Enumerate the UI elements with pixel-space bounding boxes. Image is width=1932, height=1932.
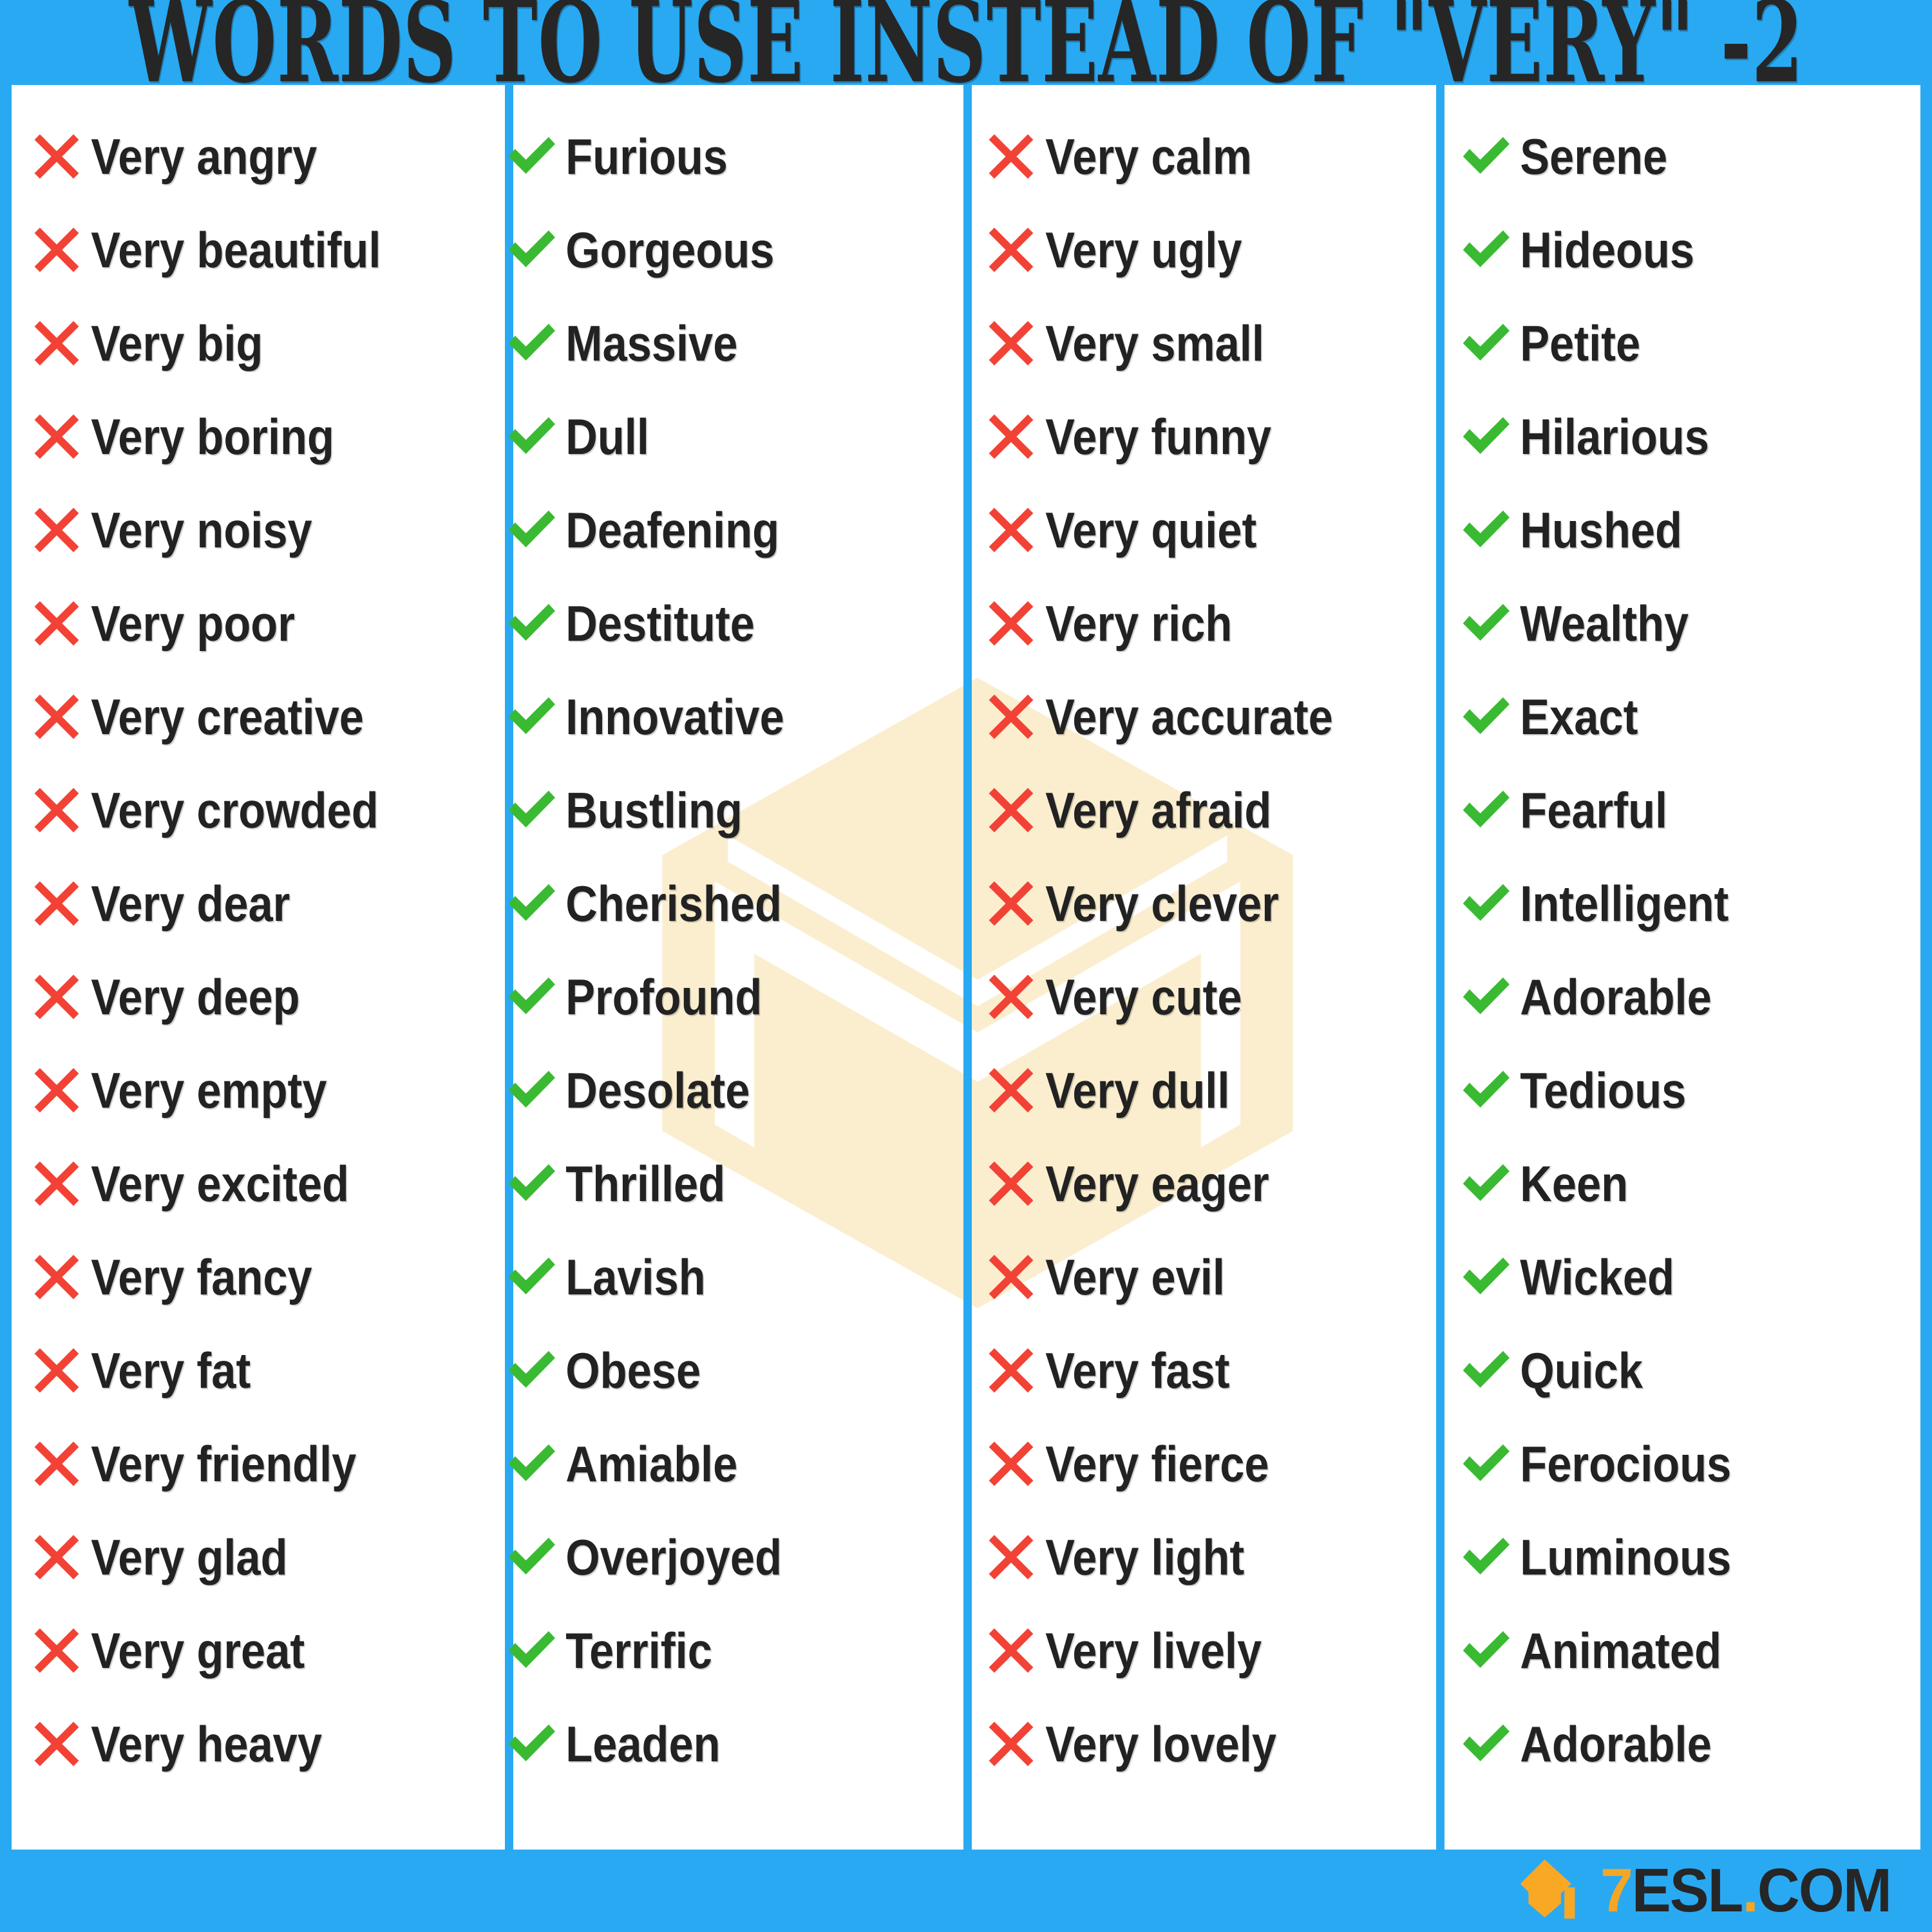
- content-panel: Very angryVery beautifulVery bigVery bor…: [12, 85, 1920, 1850]
- avoid-word-label: Very crowded: [88, 785, 379, 835]
- word-row: Deafening: [489, 483, 966, 576]
- word-row: Furious: [489, 109, 966, 203]
- word-row: Lavish: [489, 1230, 966, 1323]
- infographic-poster: WORDS TO USE INSTEAD OF "VERY" -2 Very a…: [0, 0, 1932, 1932]
- cross-icon: [26, 312, 88, 374]
- check-icon: [500, 499, 562, 561]
- word-row: Quick: [1443, 1323, 1920, 1417]
- avoid-word-label: Very beautiful: [88, 225, 381, 275]
- cross-icon: [26, 873, 88, 934]
- avoid-word-label: Very excited: [88, 1159, 349, 1209]
- logo-wordmark: 7ESL.COM: [1600, 1860, 1891, 1922]
- avoid-word-label: Very big: [88, 318, 263, 368]
- avoid-word-label: Very friendly: [88, 1439, 356, 1489]
- use-word-label: Obese: [562, 1345, 701, 1396]
- word-row: Massive: [489, 296, 966, 390]
- check-icon: [500, 1433, 562, 1495]
- word-row: Serene: [1443, 109, 1920, 203]
- use-word-label: Adorable: [1517, 1719, 1712, 1769]
- columns-container: Very angryVery beautifulVery bigVery bor…: [12, 85, 1920, 1850]
- word-row: Destitute: [489, 576, 966, 670]
- use-word-label: Serene: [1517, 131, 1667, 182]
- cross-icon: [980, 499, 1042, 561]
- cross-icon: [26, 1713, 88, 1775]
- logo-seven: 7: [1600, 1856, 1632, 1925]
- use-word-label: Leaden: [562, 1719, 721, 1769]
- word-row: Terrific: [489, 1604, 966, 1697]
- check-icon: [1455, 873, 1517, 934]
- word-row: Very boring: [12, 390, 489, 483]
- use-word-label: Thrilled: [562, 1159, 725, 1209]
- word-row: Fearful: [1443, 763, 1920, 857]
- cross-icon: [980, 1340, 1042, 1401]
- cross-icon: [26, 1059, 88, 1121]
- check-icon: [500, 126, 562, 187]
- avoid-word-label: Very noisy: [88, 505, 312, 555]
- word-row: Adorable: [1443, 950, 1920, 1043]
- use-word-label: Luminous: [1517, 1532, 1731, 1582]
- cross-icon: [26, 1246, 88, 1308]
- use-word-label: Adorable: [1517, 972, 1712, 1022]
- word-row: Very rich: [966, 576, 1443, 670]
- use-word-label: Cherished: [562, 878, 782, 929]
- word-row: Profound: [489, 950, 966, 1043]
- word-row: Thrilled: [489, 1137, 966, 1230]
- avoid-word-label: Very small: [1042, 318, 1264, 368]
- use-word-label: Gorgeous: [562, 225, 774, 275]
- use-word-label: Dull: [562, 412, 649, 462]
- use-word-label: Hushed: [1517, 505, 1682, 555]
- check-icon: [500, 1153, 562, 1215]
- check-icon: [500, 686, 562, 748]
- check-icon: [500, 219, 562, 281]
- check-icon: [1455, 126, 1517, 187]
- cross-icon: [980, 1713, 1042, 1775]
- cross-icon: [980, 312, 1042, 374]
- avoid-word-label: Very fast: [1042, 1345, 1229, 1396]
- check-icon: [1455, 1059, 1517, 1121]
- word-row: Wealthy: [1443, 576, 1920, 670]
- use-word-label: Profound: [562, 972, 762, 1022]
- word-row: Very deep: [12, 950, 489, 1043]
- avoid-word-label: Very great: [88, 1625, 305, 1676]
- word-row: Very crowded: [12, 763, 489, 857]
- check-icon: [1455, 312, 1517, 374]
- cross-icon: [26, 1433, 88, 1495]
- avoid-word-label: Very fat: [88, 1345, 251, 1396]
- check-icon: [500, 1340, 562, 1401]
- word-row: Overjoyed: [489, 1510, 966, 1604]
- cross-icon: [26, 1340, 88, 1401]
- word-row: Very big: [12, 296, 489, 390]
- cross-icon: [980, 779, 1042, 841]
- check-icon: [500, 779, 562, 841]
- use-word-label: Tedious: [1517, 1065, 1686, 1115]
- use-word-label: Furious: [562, 131, 728, 182]
- cross-icon: [980, 1526, 1042, 1588]
- check-icon: [1455, 966, 1517, 1028]
- avoid-word-label: Very afraid: [1042, 785, 1271, 835]
- word-row: Very angry: [12, 109, 489, 203]
- check-icon: [500, 1059, 562, 1121]
- cross-icon: [980, 966, 1042, 1028]
- avoid-word-label: Very calm: [1042, 131, 1252, 182]
- check-icon: [1455, 219, 1517, 281]
- cross-icon: [980, 873, 1042, 934]
- use-word-label: Destitute: [562, 598, 755, 649]
- word-row: Very ugly: [966, 203, 1443, 296]
- use-word-label: Bustling: [562, 785, 743, 835]
- word-row: Very afraid: [966, 763, 1443, 857]
- check-icon: [1455, 1340, 1517, 1401]
- check-icon: [1455, 1433, 1517, 1495]
- cross-icon: [980, 686, 1042, 748]
- word-row: Very clever: [966, 857, 1443, 950]
- site-logo[interactable]: 7ESL.COM: [1519, 1856, 1906, 1926]
- cross-icon: [26, 406, 88, 468]
- avoid-word-label: Very fierce: [1042, 1439, 1269, 1489]
- word-row: Very lively: [966, 1604, 1443, 1697]
- use-word-label: Ferocious: [1517, 1439, 1731, 1489]
- cross-icon: [980, 1059, 1042, 1121]
- column-use-1: FuriousGorgeousMassiveDullDeafeningDesti…: [489, 85, 966, 1850]
- word-row: Very empty: [12, 1043, 489, 1137]
- cross-icon: [26, 592, 88, 654]
- check-icon: [1455, 1526, 1517, 1588]
- use-word-label: Animated: [1517, 1625, 1721, 1676]
- word-row: Very fancy: [12, 1230, 489, 1323]
- avoid-word-label: Very quiet: [1042, 505, 1256, 555]
- word-row: Wicked: [1443, 1230, 1920, 1323]
- use-word-label: Terrific: [562, 1625, 712, 1676]
- word-row: Exact: [1443, 670, 1920, 763]
- avoid-word-label: Very empty: [88, 1065, 327, 1115]
- word-row: Adorable: [1443, 1697, 1920, 1790]
- word-row: Leaden: [489, 1697, 966, 1790]
- check-icon: [500, 1713, 562, 1775]
- word-row: Very excited: [12, 1137, 489, 1230]
- title-bar: WORDS TO USE INSTEAD OF "VERY" -2: [0, 0, 1932, 85]
- check-icon: [500, 1526, 562, 1588]
- footer-bar: 7ESL.COM: [0, 1850, 1932, 1932]
- word-row: Luminous: [1443, 1510, 1920, 1604]
- check-icon: [500, 1246, 562, 1308]
- cross-icon: [980, 1433, 1042, 1495]
- check-icon: [500, 312, 562, 374]
- check-icon: [1455, 1153, 1517, 1215]
- word-row: Very glad: [12, 1510, 489, 1604]
- use-word-label: Deafening: [562, 505, 779, 555]
- logo-esl: ESL: [1632, 1856, 1743, 1925]
- use-word-label: Overjoyed: [562, 1532, 782, 1582]
- word-row: Desolate: [489, 1043, 966, 1137]
- word-row: Gorgeous: [489, 203, 966, 296]
- word-row: Hushed: [1443, 483, 1920, 576]
- column-avoid-1: Very angryVery beautifulVery bigVery bor…: [12, 85, 489, 1850]
- avoid-word-label: Very funny: [1042, 412, 1271, 462]
- word-row: Very eager: [966, 1137, 1443, 1230]
- cube-logo-icon: [1519, 1856, 1589, 1926]
- avoid-word-label: Very lovely: [1042, 1719, 1276, 1769]
- word-row: Very funny: [966, 390, 1443, 483]
- word-row: Hideous: [1443, 203, 1920, 296]
- word-row: Bustling: [489, 763, 966, 857]
- word-row: Hilarious: [1443, 390, 1920, 483]
- word-row: Very cute: [966, 950, 1443, 1043]
- word-row: Tedious: [1443, 1043, 1920, 1137]
- word-row: Innovative: [489, 670, 966, 763]
- word-row: Very noisy: [12, 483, 489, 576]
- cross-icon: [980, 126, 1042, 187]
- cross-icon: [26, 126, 88, 187]
- use-word-label: Wealthy: [1517, 598, 1689, 649]
- avoid-word-label: Very dull: [1042, 1065, 1229, 1115]
- avoid-word-label: Very heavy: [88, 1719, 322, 1769]
- check-icon: [500, 873, 562, 934]
- word-row: Very great: [12, 1604, 489, 1697]
- avoid-word-label: Very poor: [88, 598, 295, 649]
- cross-icon: [26, 1526, 88, 1588]
- logo-com: COM: [1757, 1856, 1891, 1925]
- cross-icon: [980, 592, 1042, 654]
- word-row: Very calm: [966, 109, 1443, 203]
- avoid-word-label: Very light: [1042, 1532, 1244, 1582]
- check-icon: [1455, 1620, 1517, 1681]
- column-use-2: SereneHideousPetiteHilariousHushedWealth…: [1443, 85, 1920, 1850]
- word-row: Cherished: [489, 857, 966, 950]
- column-avoid-2: Very calmVery uglyVery smallVery funnyVe…: [966, 85, 1443, 1850]
- use-word-label: Quick: [1517, 1345, 1643, 1396]
- check-icon: [1455, 1713, 1517, 1775]
- word-row: Ferocious: [1443, 1417, 1920, 1510]
- logo-dot: .: [1743, 1856, 1757, 1925]
- word-row: Very fat: [12, 1323, 489, 1417]
- use-word-label: Wicked: [1517, 1252, 1674, 1302]
- word-row: Very light: [966, 1510, 1443, 1604]
- use-word-label: Hilarious: [1517, 412, 1709, 462]
- avoid-word-label: Very angry: [88, 131, 317, 182]
- word-row: Very heavy: [12, 1697, 489, 1790]
- use-word-label: Hideous: [1517, 225, 1694, 275]
- avoid-word-label: Very rich: [1042, 598, 1232, 649]
- avoid-word-label: Very deep: [88, 972, 300, 1022]
- use-word-label: Petite: [1517, 318, 1640, 368]
- use-word-label: Lavish: [562, 1252, 706, 1302]
- word-row: Animated: [1443, 1604, 1920, 1697]
- check-icon: [500, 1620, 562, 1681]
- avoid-word-label: Very eager: [1042, 1159, 1269, 1209]
- word-row: Very creative: [12, 670, 489, 763]
- word-row: Very fierce: [966, 1417, 1443, 1510]
- word-row: Very lovely: [966, 1697, 1443, 1790]
- cross-icon: [26, 779, 88, 841]
- cross-icon: [980, 1620, 1042, 1681]
- use-word-label: Keen: [1517, 1159, 1628, 1209]
- use-word-label: Massive: [562, 318, 737, 368]
- use-word-label: Amiable: [562, 1439, 737, 1489]
- check-icon: [1455, 592, 1517, 654]
- word-row: Keen: [1443, 1137, 1920, 1230]
- check-icon: [500, 966, 562, 1028]
- use-word-label: Exact: [1517, 692, 1638, 742]
- cross-icon: [26, 1153, 88, 1215]
- word-row: Very quiet: [966, 483, 1443, 576]
- word-row: Very fast: [966, 1323, 1443, 1417]
- check-icon: [1455, 499, 1517, 561]
- word-row: Obese: [489, 1323, 966, 1417]
- word-row: Very evil: [966, 1230, 1443, 1323]
- use-word-label: Innovative: [562, 692, 784, 742]
- check-icon: [500, 406, 562, 468]
- avoid-word-label: Very glad: [88, 1532, 288, 1582]
- word-row: Very accurate: [966, 670, 1443, 763]
- avoid-word-label: Very dear: [88, 878, 290, 929]
- word-row: Very dull: [966, 1043, 1443, 1137]
- use-word-label: Intelligent: [1517, 878, 1728, 929]
- cross-icon: [26, 499, 88, 561]
- check-icon: [500, 592, 562, 654]
- check-icon: [1455, 779, 1517, 841]
- avoid-word-label: Very ugly: [1042, 225, 1242, 275]
- check-icon: [1455, 406, 1517, 468]
- cross-icon: [26, 1620, 88, 1681]
- page-title: WORDS TO USE INSTEAD OF "VERY" -2: [129, 0, 1803, 85]
- word-row: Very friendly: [12, 1417, 489, 1510]
- avoid-word-label: Very lively: [1042, 1625, 1262, 1676]
- cross-icon: [26, 966, 88, 1028]
- cross-icon: [980, 406, 1042, 468]
- cross-icon: [980, 219, 1042, 281]
- avoid-word-label: Very accurate: [1042, 692, 1333, 742]
- avoid-word-label: Very evil: [1042, 1252, 1225, 1302]
- avoid-word-label: Very cute: [1042, 972, 1242, 1022]
- cross-icon: [980, 1153, 1042, 1215]
- cross-icon: [26, 219, 88, 281]
- avoid-word-label: Very clever: [1042, 878, 1279, 929]
- check-icon: [1455, 1246, 1517, 1308]
- avoid-word-label: Very fancy: [88, 1252, 312, 1302]
- word-row: Intelligent: [1443, 857, 1920, 950]
- word-row: Dull: [489, 390, 966, 483]
- word-row: Very dear: [12, 857, 489, 950]
- word-row: Petite: [1443, 296, 1920, 390]
- word-row: Very poor: [12, 576, 489, 670]
- use-word-label: Fearful: [1517, 785, 1667, 835]
- word-row: Amiable: [489, 1417, 966, 1510]
- use-word-label: Desolate: [562, 1065, 750, 1115]
- word-row: Very beautiful: [12, 203, 489, 296]
- cross-icon: [26, 686, 88, 748]
- cross-icon: [980, 1246, 1042, 1308]
- check-icon: [1455, 686, 1517, 748]
- word-row: Very small: [966, 296, 1443, 390]
- avoid-word-label: Very creative: [88, 692, 364, 742]
- avoid-word-label: Very boring: [88, 412, 334, 462]
